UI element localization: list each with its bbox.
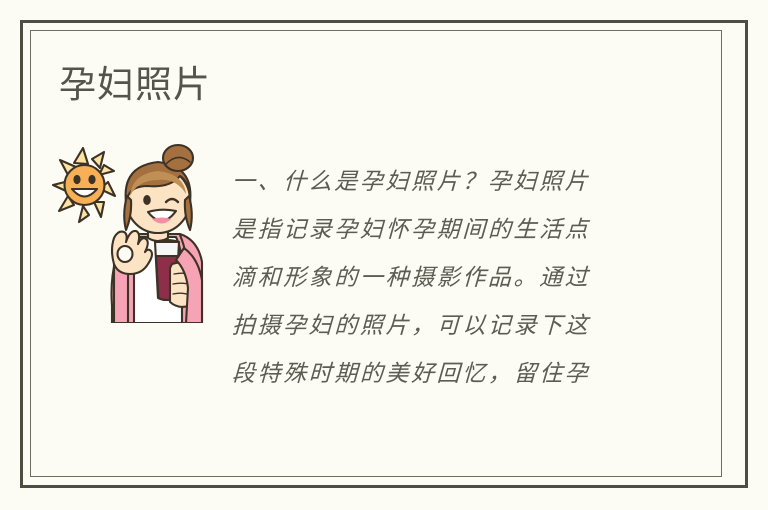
article-page: 孕妇照片 [0, 0, 768, 510]
article-line: 是指记录孕妇怀孕期间的生活点 [231, 206, 649, 254]
article-body: 一、什么是孕妇照片？孕妇照片 是指记录孕妇怀孕期间的生活点 滴和形象的一种摄影作… [232, 158, 648, 398]
pregnant-woman-figure [112, 145, 203, 323]
article-line: 滴和形象的一种摄影作品。通过 [231, 254, 649, 302]
illustration-pregnant-woman-with-sun [52, 138, 224, 323]
article-line: 一、什么是孕妇照片？孕妇照片 [231, 158, 649, 206]
article-line: 段特殊时期的美好回忆，留住孕 [231, 350, 649, 398]
article-line: 拍摄孕妇的照片，可以记录下这 [231, 302, 649, 350]
page-title: 孕妇照片 [59, 63, 211, 107]
sun-icon [53, 148, 115, 222]
page-content: 孕妇照片 [0, 0, 768, 510]
